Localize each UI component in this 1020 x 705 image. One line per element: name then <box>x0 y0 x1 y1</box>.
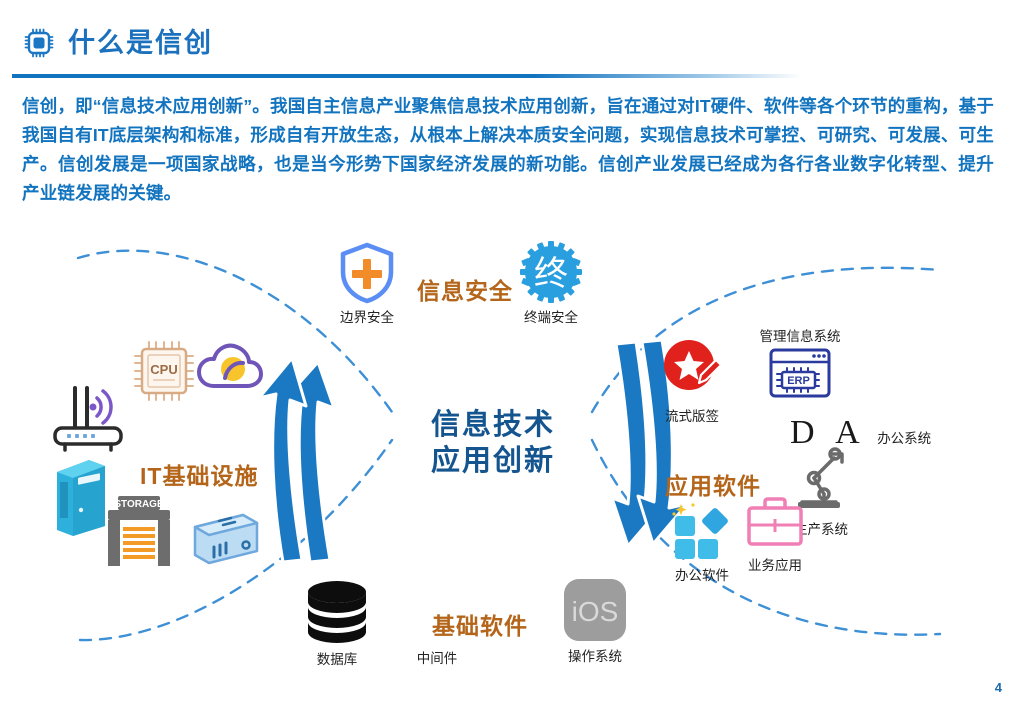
node-label-middleware: 中间件 <box>417 651 458 666</box>
intro-paragraph: 信创，即“信息技术应用创新”。我国自主信息产业聚焦信息技术应用创新，旨在通过对I… <box>22 92 994 208</box>
node-label-stream-signature: 流式版签 <box>665 409 719 424</box>
node-label-office-software: 办公软件 <box>675 568 729 583</box>
section-heading-security: 信息安全 <box>417 272 513 306</box>
node-operating-system: iOS 操作系统 <box>548 577 642 666</box>
briefcase-icon <box>733 494 817 557</box>
ios-icon-text: iOS <box>572 596 619 627</box>
node-label-business-application: 业务应用 <box>748 558 802 573</box>
cpu-icon: CPU <box>132 340 196 407</box>
left-up-arrow <box>259 356 334 567</box>
red-star-pen-icon <box>650 337 734 408</box>
storage-icon-text: STORAGE <box>114 499 164 510</box>
node-cloud <box>196 340 264 399</box>
database-icon <box>295 580 379 651</box>
node-label-database: 数据库 <box>317 652 358 667</box>
chip-icon <box>24 28 54 58</box>
router-icon <box>50 382 130 459</box>
page-title: 什么是信创 <box>68 27 213 59</box>
storage-icon: STORAGE <box>103 494 175 573</box>
center-title-line1: 信息技术 <box>408 407 578 443</box>
center-title: 信息技术 应用创新 <box>408 407 578 479</box>
ios-tile-icon: iOS <box>548 577 642 648</box>
badge-zhong-icon: 终 <box>505 240 597 309</box>
node-router <box>50 382 130 459</box>
cpu-icon-text: CPU <box>150 362 177 377</box>
node-management-info-system: 管理信息系统 ERP <box>744 328 856 403</box>
page-number: 4 <box>995 680 1002 695</box>
erp-icon-text: ERP <box>787 375 810 387</box>
node-label-management-info-system: 管理信息系统 <box>744 328 856 345</box>
node-cpu: CPU <box>132 340 196 407</box>
node-label-endpoint-security: 终端安全 <box>524 310 578 325</box>
svg-text:终: 终 <box>534 254 568 294</box>
concept-diagram: 信息技术 应用创新 信息安全 IT基础设施 应用软件 基础软件 边界安全 <box>0 222 1020 682</box>
node-label-office-system: 办公系统 <box>877 431 931 446</box>
node-database: 数据库 <box>295 580 379 669</box>
section-heading-basic-software: 基础软件 <box>432 607 528 641</box>
cloud-icon <box>196 340 264 399</box>
section-heading-infrastructure: IT基础设施 <box>140 457 258 491</box>
network-switch-icon <box>182 509 262 574</box>
node-stream-signature: 流式版签 <box>650 337 734 426</box>
node-switch <box>182 509 262 574</box>
node-boundary-security: 边界安全 <box>330 242 404 327</box>
node-middleware: 中间件 <box>395 650 479 668</box>
node-office-software: 办公软件 <box>660 500 744 585</box>
node-label-boundary-security: 边界安全 <box>340 310 394 325</box>
erp-window-icon: ERP <box>744 348 856 403</box>
node-storage: STORAGE <box>103 494 175 573</box>
node-business-application: 业务应用 <box>733 494 817 575</box>
center-title-line2: 应用创新 <box>408 443 578 479</box>
slide-header: 什么是信创 <box>0 0 1020 78</box>
node-endpoint-security: 终 终端安全 <box>505 240 597 327</box>
header-divider <box>12 74 802 78</box>
shield-plus-icon <box>330 242 404 309</box>
node-label-operating-system: 操作系统 <box>568 649 622 664</box>
four-squares-icon <box>660 500 744 567</box>
